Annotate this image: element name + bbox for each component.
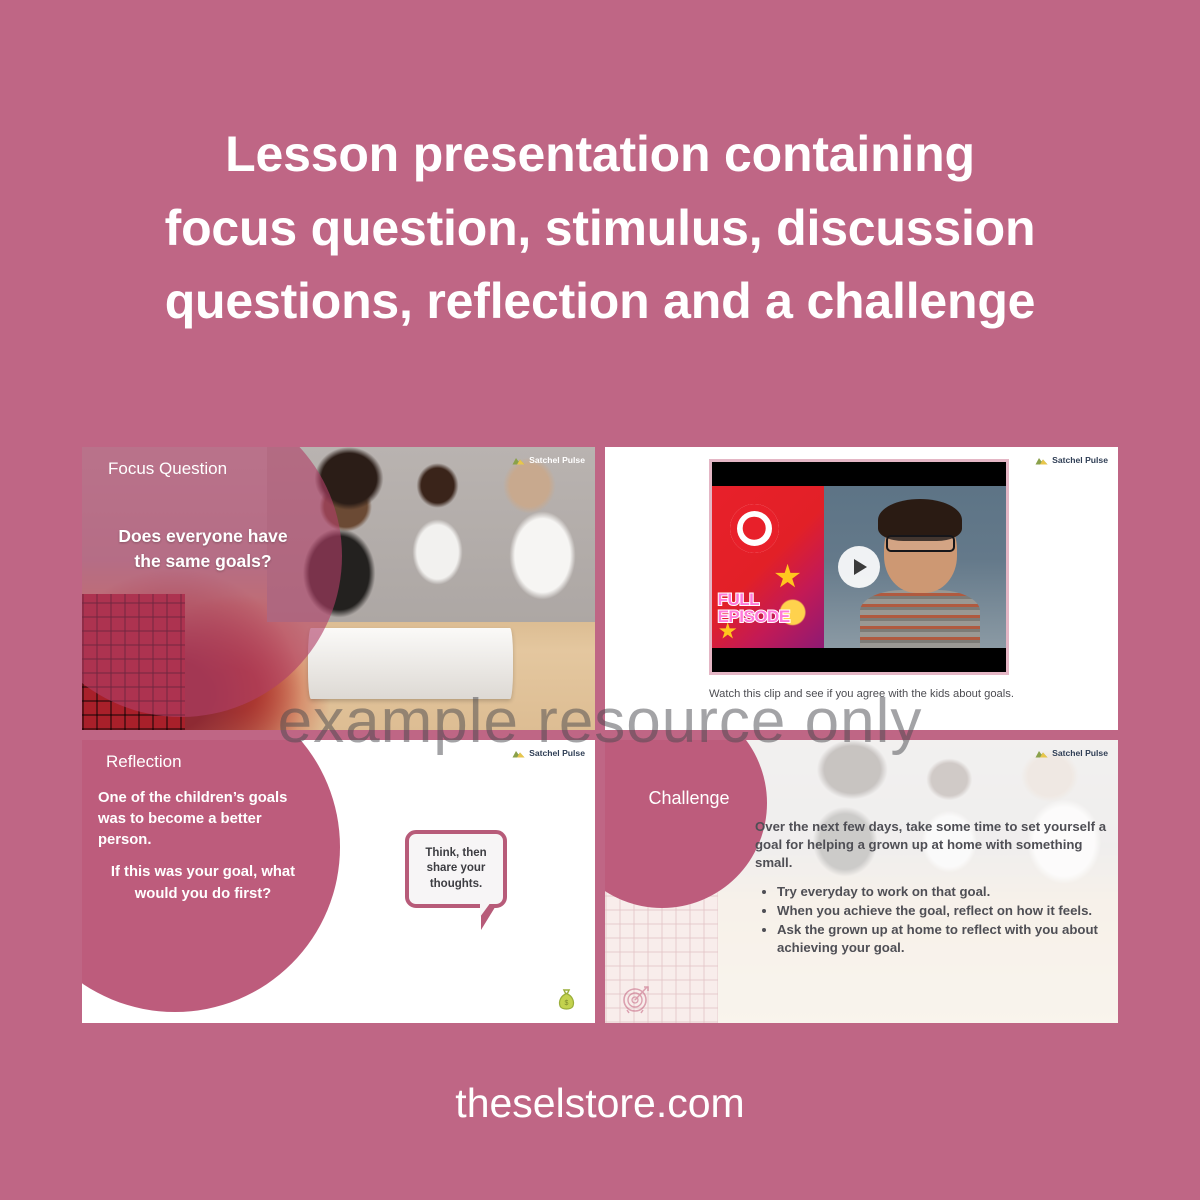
- mountain-icon: [1035, 749, 1048, 758]
- satchel-pulse-logo: Satchel Pulse: [512, 455, 585, 465]
- full-episode-badge: FULL EPISODE: [718, 592, 790, 625]
- page-title-line-1: Lesson presentation containing: [60, 118, 1140, 192]
- mountain-icon: [512, 456, 525, 465]
- mountain-icon: [512, 749, 525, 758]
- stimulus-caption: Watch this clip and see if you agree wit…: [605, 688, 1118, 700]
- slide-thumbnail-grid: Focus Question Does everyone have the sa…: [82, 447, 1118, 1027]
- mountain-icon: [1035, 456, 1048, 465]
- page-title-line-2: focus question, stimulus, discussion: [60, 192, 1140, 266]
- child-torso: [860, 590, 980, 648]
- page-title: Lesson presentation containing focus que…: [60, 118, 1140, 339]
- svg-text:$: $: [565, 1000, 569, 1007]
- money-bag-icon: $: [556, 988, 577, 1013]
- full-episode-line-2: EPISODE: [718, 609, 790, 626]
- broadcaster-logo-icon: [730, 504, 779, 553]
- focus-question-text: Does everyone have the same goals?: [104, 524, 302, 574]
- satchel-pulse-logo-text: Satchel Pulse: [1052, 748, 1108, 758]
- list-item: When you achieve the goal, reflect on ho…: [777, 902, 1110, 920]
- speech-bubble: Think, then share your thoughts.: [405, 830, 507, 908]
- challenge-body: Over the next few days, take some time t…: [755, 818, 1110, 959]
- slide-label-challenge: Challenge: [614, 788, 764, 809]
- reflection-body: One of the children’s goals was to becom…: [98, 788, 308, 905]
- slide-stimulus[interactable]: FULL EPISODE Watch this clip and see if …: [605, 447, 1118, 730]
- target-icon: [620, 981, 654, 1015]
- reflection-paragraph-2: If this was your goal, what would you do…: [98, 862, 308, 904]
- challenge-bullet-list: Try everyday to work on that goal. When …: [777, 883, 1110, 958]
- page-title-line-3: questions, reflection and a challenge: [60, 265, 1140, 339]
- list-item: Try everyday to work on that goal.: [777, 883, 1110, 901]
- satchel-pulse-logo: Satchel Pulse: [512, 748, 585, 758]
- slide-challenge[interactable]: Challenge Over the next few days, take s…: [605, 740, 1118, 1023]
- slide-reflection[interactable]: Reflection One of the children’s goals w…: [82, 740, 595, 1023]
- video-thumbnail-branding: FULL EPISODE: [712, 486, 824, 648]
- footer-website: theselstore.com: [0, 1080, 1200, 1127]
- slide-label-reflection: Reflection: [106, 752, 182, 772]
- star-icon: [775, 564, 801, 590]
- speech-bubble-text: Think, then share your thoughts.: [409, 846, 503, 893]
- satchel-pulse-logo-text: Satchel Pulse: [529, 455, 585, 465]
- list-item: Ask the grown up at home to reflect with…: [777, 921, 1110, 957]
- video-embed[interactable]: FULL EPISODE: [709, 459, 1009, 675]
- satchel-pulse-logo-text: Satchel Pulse: [529, 748, 585, 758]
- slide-label-focus-question: Focus Question: [108, 459, 227, 479]
- satchel-pulse-logo-text: Satchel Pulse: [1052, 455, 1108, 465]
- satchel-pulse-logo: Satchel Pulse: [1035, 455, 1108, 465]
- satchel-pulse-logo: Satchel Pulse: [1035, 748, 1108, 758]
- play-icon[interactable]: [838, 546, 880, 588]
- glasses-icon: [886, 535, 955, 553]
- challenge-intro: Over the next few days, take some time t…: [755, 818, 1110, 873]
- slide-focus-question[interactable]: Focus Question Does everyone have the sa…: [82, 447, 595, 730]
- reflection-paragraph-1: One of the children’s goals was to becom…: [98, 788, 308, 851]
